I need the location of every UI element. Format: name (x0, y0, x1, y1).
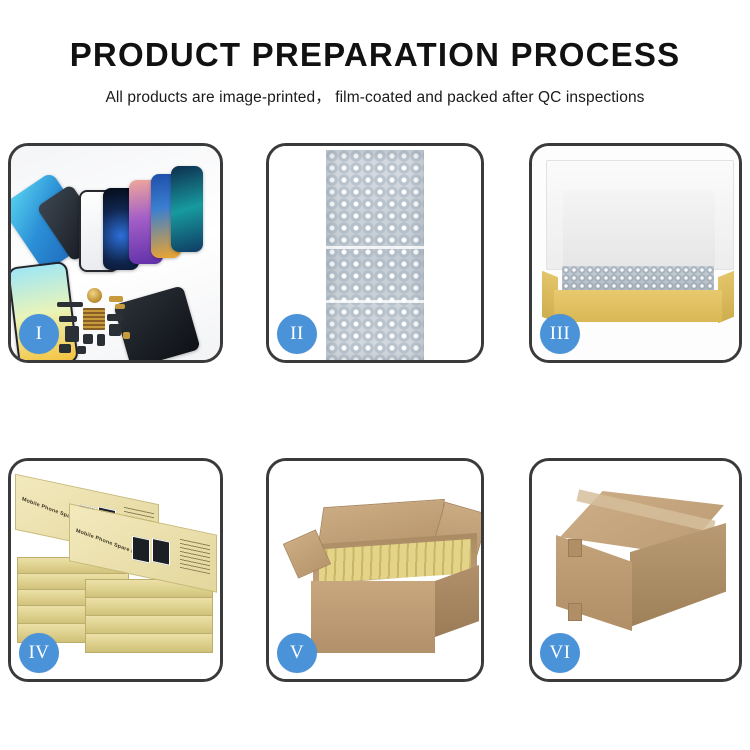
page-header: PRODUCT PREPARATION PROCESS All products… (0, 0, 750, 107)
step-3-image: III (532, 146, 739, 360)
step-badge-6: VI (540, 633, 580, 673)
process-step-4: Mobile Phone Spare Parts Mobile Phone Sp… (8, 458, 223, 682)
step-badge-3: III (540, 314, 580, 354)
page-subtitle: All products are image-printed， film-coa… (0, 73, 750, 107)
step-5-image: V (269, 461, 481, 679)
step-badge-5: V (277, 633, 317, 673)
spare-parts-cluster (63, 288, 159, 358)
teal-gradient-phone-icon (171, 166, 203, 252)
step-1-image: I (11, 146, 220, 360)
step-badge-1: I (19, 314, 59, 354)
carton-tab-lower-icon (568, 603, 582, 621)
carton-side-panel-icon (435, 565, 479, 637)
step-4-image: Mobile Phone Spare Parts Mobile Phone Sp… (11, 461, 220, 679)
step-badge-2: II (277, 314, 317, 354)
process-step-5: V (266, 458, 484, 682)
carton-front-panel-icon (311, 581, 435, 653)
step-6-image: VI (532, 461, 739, 679)
process-step-3: III (529, 143, 742, 363)
process-step-2: II (266, 143, 484, 363)
bubble-wrap-sheet-icon (326, 150, 424, 360)
process-step-1: I (8, 143, 223, 363)
process-step-grid: I II III (8, 143, 742, 682)
step-badge-4: IV (19, 633, 59, 673)
process-step-6: VI (529, 458, 742, 682)
box-lid-icon (546, 160, 734, 270)
box-front-panel-icon (554, 290, 722, 322)
step-2-image: II (269, 146, 481, 360)
carton-tab-upper-icon (568, 539, 582, 557)
page-title: PRODUCT PREPARATION PROCESS (0, 0, 750, 73)
